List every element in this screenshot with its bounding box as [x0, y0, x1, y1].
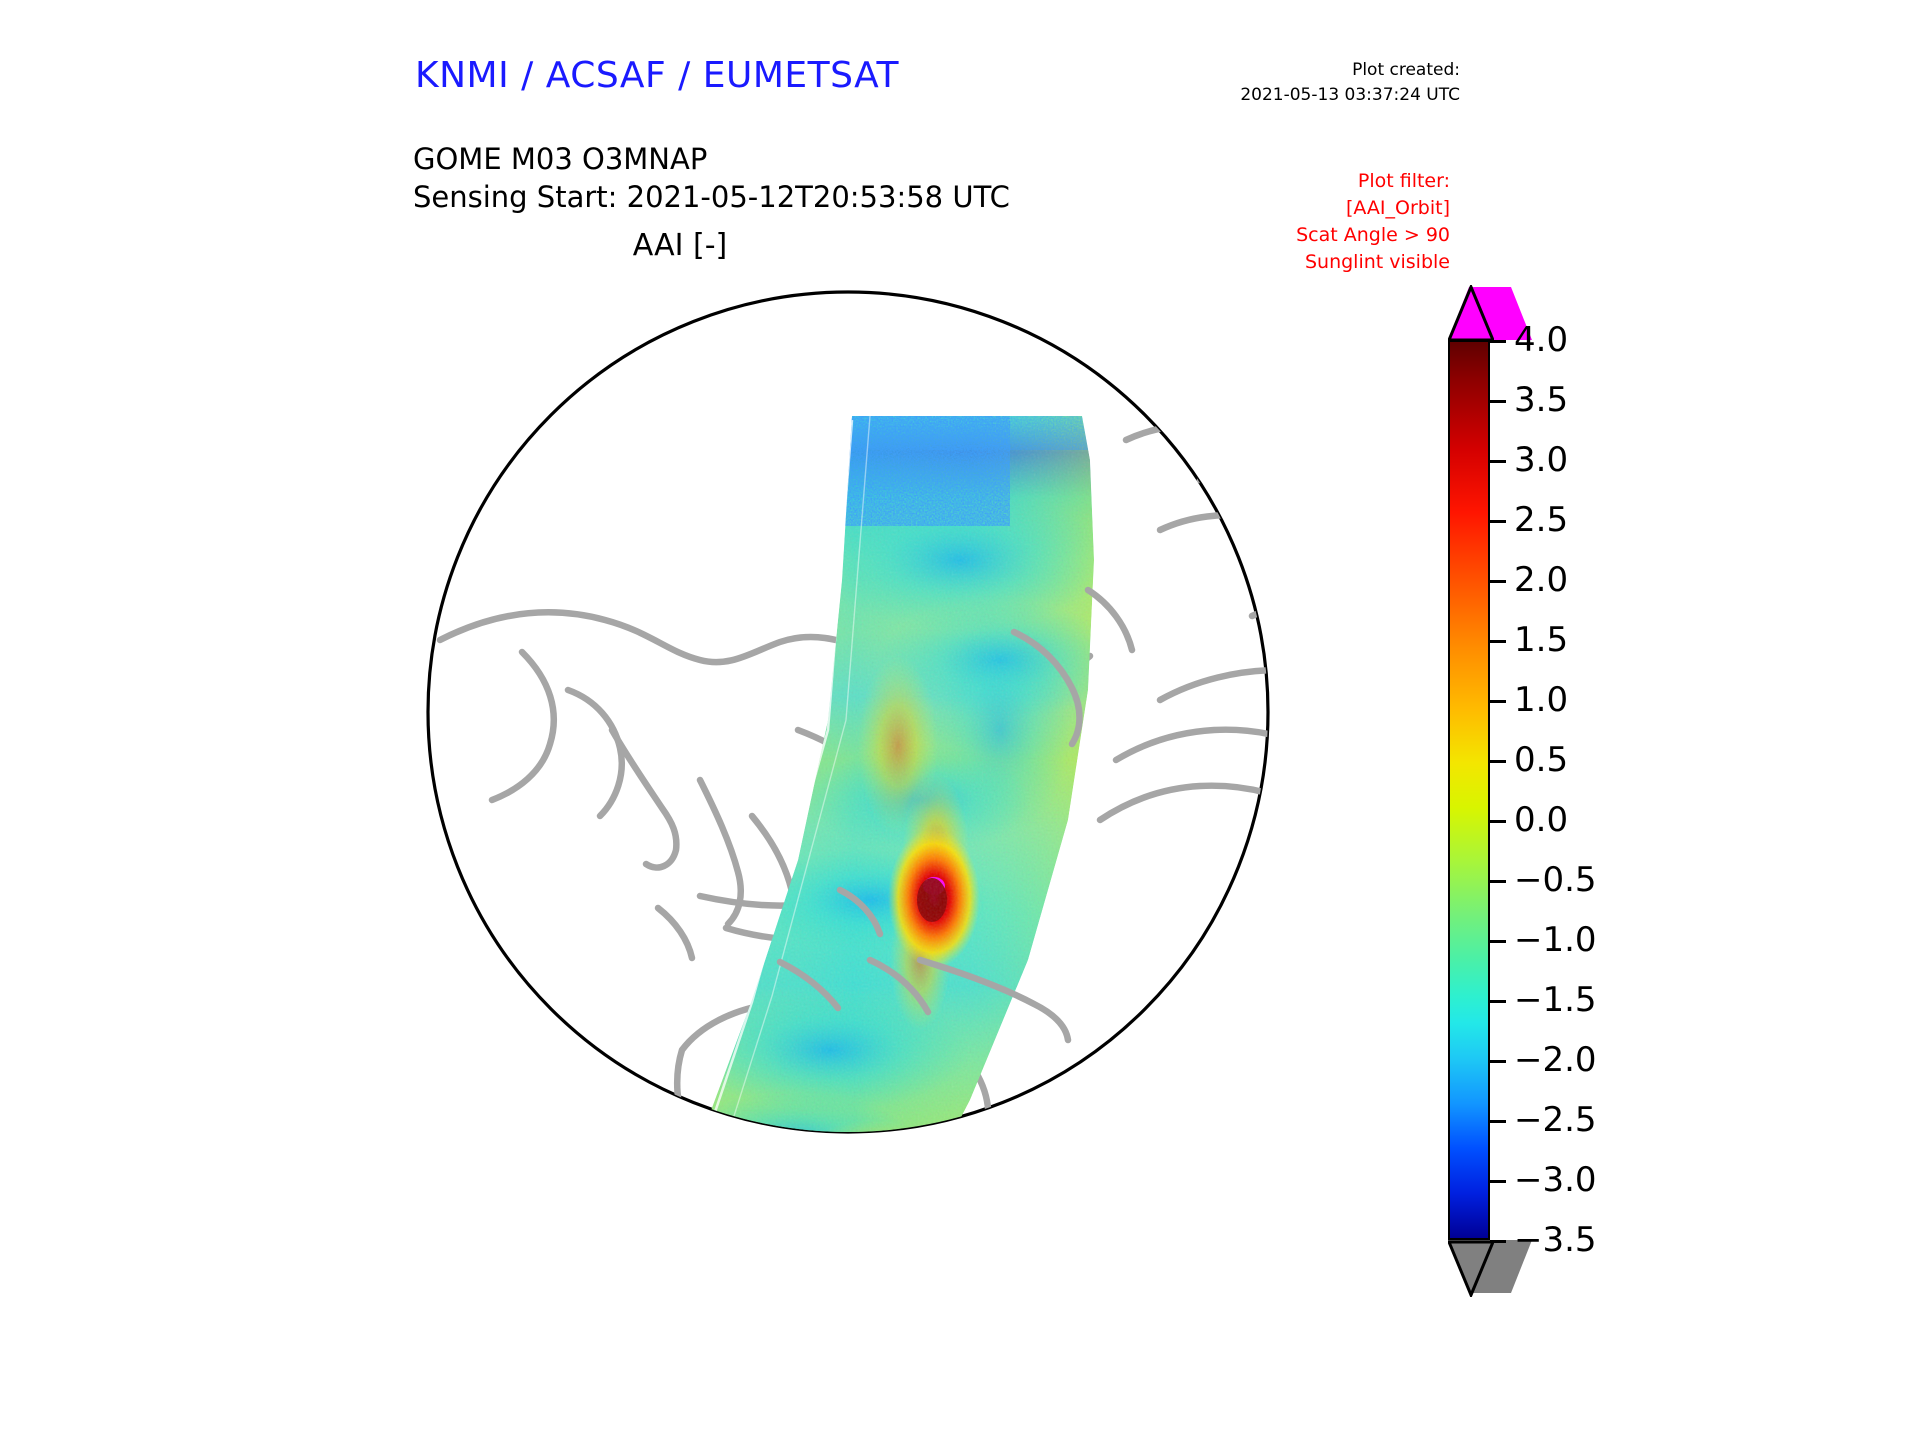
colorbar-tick-label: −2.0 [1514, 1040, 1597, 1080]
colorbar-tick [1490, 460, 1506, 463]
plot-created-label: Plot created: [1040, 58, 1460, 83]
colorbar-tick-label: 2.0 [1514, 560, 1568, 600]
colorbar-tick [1490, 340, 1506, 343]
sensing-start: Sensing Start: 2021-05-12T20:53:58 UTC [413, 178, 1010, 216]
colorbar-tick-label: 1.5 [1514, 620, 1568, 660]
colorbar-tick-label: 1.0 [1514, 680, 1568, 720]
colorbar-tick-label: −3.0 [1514, 1160, 1597, 1200]
colorbar-tick-label: 0.5 [1514, 740, 1568, 780]
colorbar-tick-label: 3.0 [1514, 440, 1568, 480]
colorbar-tick-label: 3.5 [1514, 380, 1568, 420]
colorbar-tick [1490, 580, 1506, 583]
colorbar-tick [1490, 940, 1506, 943]
colorbar-tick-label: −2.5 [1514, 1100, 1597, 1140]
colorbar: 4.03.53.02.52.01.51.00.50.0−0.5−1.0−1.5−… [1448, 285, 1748, 1295]
plot-created-timestamp: 2021-05-13 03:37:24 UTC [1040, 83, 1460, 108]
plot-created-block: Plot created: 2021-05-13 03:37:24 UTC [1040, 58, 1460, 107]
colorbar-gradient [1448, 340, 1490, 1240]
map-panel [400, 260, 1300, 1160]
colorbar-tick [1490, 820, 1506, 823]
colorbar-tick-label: −0.5 [1514, 860, 1597, 900]
colorbar-tick [1490, 640, 1506, 643]
product-name: GOME M03 O3MNAP [413, 140, 1010, 178]
product-info-block: GOME M03 O3MNAP Sensing Start: 2021-05-1… [413, 140, 1010, 217]
colorbar-tick [1490, 520, 1506, 523]
colorbar-tick [1490, 880, 1506, 883]
filter-line-2: [AAI_Orbit] [1100, 195, 1450, 222]
colorbar-tick [1490, 1120, 1506, 1123]
organisation-title: KNMI / ACSAF / EUMETSAT [415, 55, 899, 96]
colorbar-tick [1490, 1240, 1506, 1243]
colorbar-tick [1490, 760, 1506, 763]
filter-line-3: Scat Angle > 90 [1100, 222, 1450, 249]
colorbar-tick-label: −1.0 [1514, 920, 1597, 960]
colorbar-tick-label: 2.5 [1514, 500, 1568, 540]
colorbar-tick-label: −3.5 [1514, 1220, 1597, 1260]
colorbar-tick [1490, 400, 1506, 403]
colorbar-tick [1490, 700, 1506, 703]
colorbar-tick [1490, 1000, 1506, 1003]
colorbar-tick-label: −1.5 [1514, 980, 1597, 1020]
orthographic-globe [400, 260, 1300, 1160]
colorbar-tick [1490, 1180, 1506, 1183]
colorbar-tick-label: 4.0 [1514, 320, 1568, 360]
colorbar-tick [1490, 1060, 1506, 1063]
colorbar-tick-label: 0.0 [1514, 800, 1568, 840]
filter-line-1: Plot filter: [1100, 168, 1450, 195]
